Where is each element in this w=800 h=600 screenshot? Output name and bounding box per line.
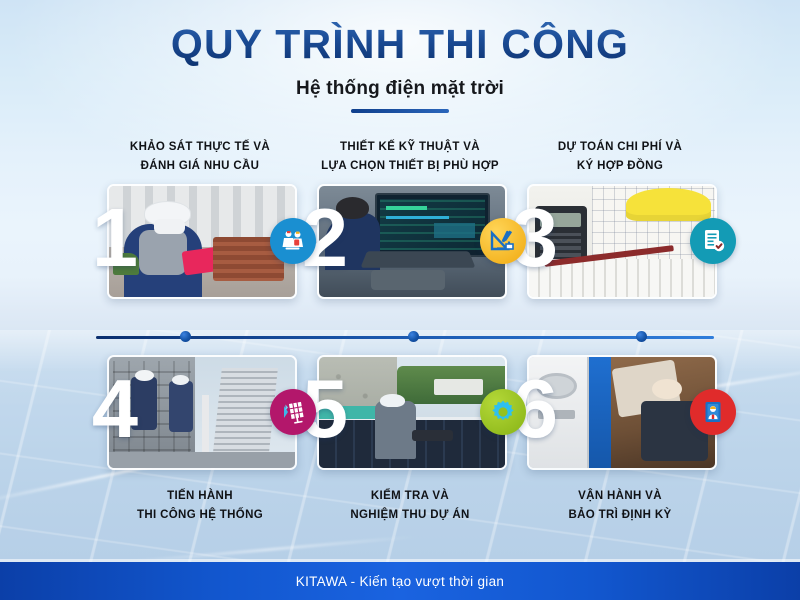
step-6-label-line2: BẢO TRÌ ĐỊNH KỲ	[502, 506, 738, 525]
poster-header: QUY TRÌNH THI CÔNG Hệ thống điện mặt trờ…	[0, 22, 800, 113]
drafting-triangle-ruler-icon	[480, 218, 526, 264]
step-4-media: 4	[82, 355, 318, 475]
timeline-dot-3	[636, 331, 647, 342]
timeline-dot-2	[408, 331, 419, 342]
page-subtitle: Hệ thống điện mặt trời	[0, 78, 800, 100]
maintenance-worker-icon	[690, 389, 736, 435]
step-card-3[interactable]: DỰ TOÁN CHI PHÍ VÀ KÝ HỢP ĐỒNG	[502, 138, 738, 304]
step-card-2[interactable]: THIẾT KẾ KỸ THUẬT VÀ LỰA CHỌN THIẾT BỊ P…	[292, 138, 528, 304]
step-4-label-line2: THI CÔNG HỆ THỐNG	[82, 506, 318, 525]
step-1-media: 1	[82, 184, 318, 304]
step-1-label: KHẢO SÁT THỰC TẾ VÀ ĐÁNH GIÁ NHU CẦU	[82, 138, 318, 176]
step-2-label-line2: LỰA CHỌN THIẾT BỊ PHÙ HỢP	[292, 157, 528, 176]
solar-panel-install-icon	[270, 389, 316, 435]
step-6-label-line1: VẬN HÀNH VÀ	[502, 487, 738, 506]
step-2-label: THIẾT KẾ KỸ THUẬT VÀ LỰA CHỌN THIẾT BỊ P…	[292, 138, 528, 176]
step-1-label-line2: ĐÁNH GIÁ NHU CẦU	[82, 157, 318, 176]
step-2-label-line1: THIẾT KẾ KỸ THUẬT VÀ	[292, 138, 528, 157]
step-5-media: 5	[292, 355, 528, 475]
title-underline-rule	[351, 109, 449, 113]
step-card-1[interactable]: KHẢO SÁT THỰC TẾ VÀ ĐÁNH GIÁ NHU CẦU	[82, 138, 318, 304]
step-6-label: VẬN HÀNH VÀ BẢO TRÌ ĐỊNH KỲ	[502, 487, 738, 525]
two-people-consultation-icon	[270, 218, 316, 264]
gear-inspection-icon	[480, 389, 526, 435]
steps-row-bottom: 4 TIẾN HÀNH THI CÔ	[0, 355, 800, 545]
step-5-label: KIỂM TRA VÀ NGHIỆM THU DỰ ÁN	[292, 487, 528, 525]
page-title: QUY TRÌNH THI CÔNG	[0, 22, 800, 66]
contract-check-icon	[690, 218, 736, 264]
step-3-media: 3	[502, 184, 738, 304]
timeline-dot-1	[180, 331, 191, 342]
step-3-label-line2: KÝ HỢP ĐỒNG	[502, 157, 738, 176]
infographic-poster: QUY TRÌNH THI CÔNG Hệ thống điện mặt trờ…	[0, 0, 800, 600]
step-4-label-line1: TIẾN HÀNH	[82, 487, 318, 506]
step-card-6[interactable]: 6 VẬN HÀNH VÀ BẢO TRÌ ĐỊNH KỲ	[502, 355, 738, 525]
step-1-label-line1: KHẢO SÁT THỰC TẾ VÀ	[82, 138, 318, 157]
step-4-number: 4	[82, 367, 146, 450]
step-5-label-line2: NGHIỆM THU DỰ ÁN	[292, 506, 528, 525]
step-5-label-line1: KIỂM TRA VÀ	[292, 487, 528, 506]
step-card-4[interactable]: 4 TIẾN HÀNH THI CÔ	[82, 355, 318, 525]
step-1-number: 1	[82, 196, 146, 279]
step-2-media: 2	[292, 184, 528, 304]
step-4-label: TIẾN HÀNH THI CÔNG HỆ THỐNG	[82, 487, 318, 525]
step-card-5[interactable]: 5 KIỂM TRA VÀ NGHIỆM THU DỰ ÁN	[292, 355, 528, 525]
footer-tagline: KITAWA - Kiến tạo vượt thời gian	[296, 574, 504, 589]
steps-row-top: KHẢO SÁT THỰC TẾ VÀ ĐÁNH GIÁ NHU CẦU	[0, 138, 800, 323]
step-3-label: DỰ TOÁN CHI PHÍ VÀ KÝ HỢP ĐỒNG	[502, 138, 738, 176]
step-3-label-line1: DỰ TOÁN CHI PHÍ VÀ	[502, 138, 738, 157]
footer-bar: KITAWA - Kiến tạo vượt thời gian	[0, 562, 800, 600]
step-6-media: 6	[502, 355, 738, 475]
